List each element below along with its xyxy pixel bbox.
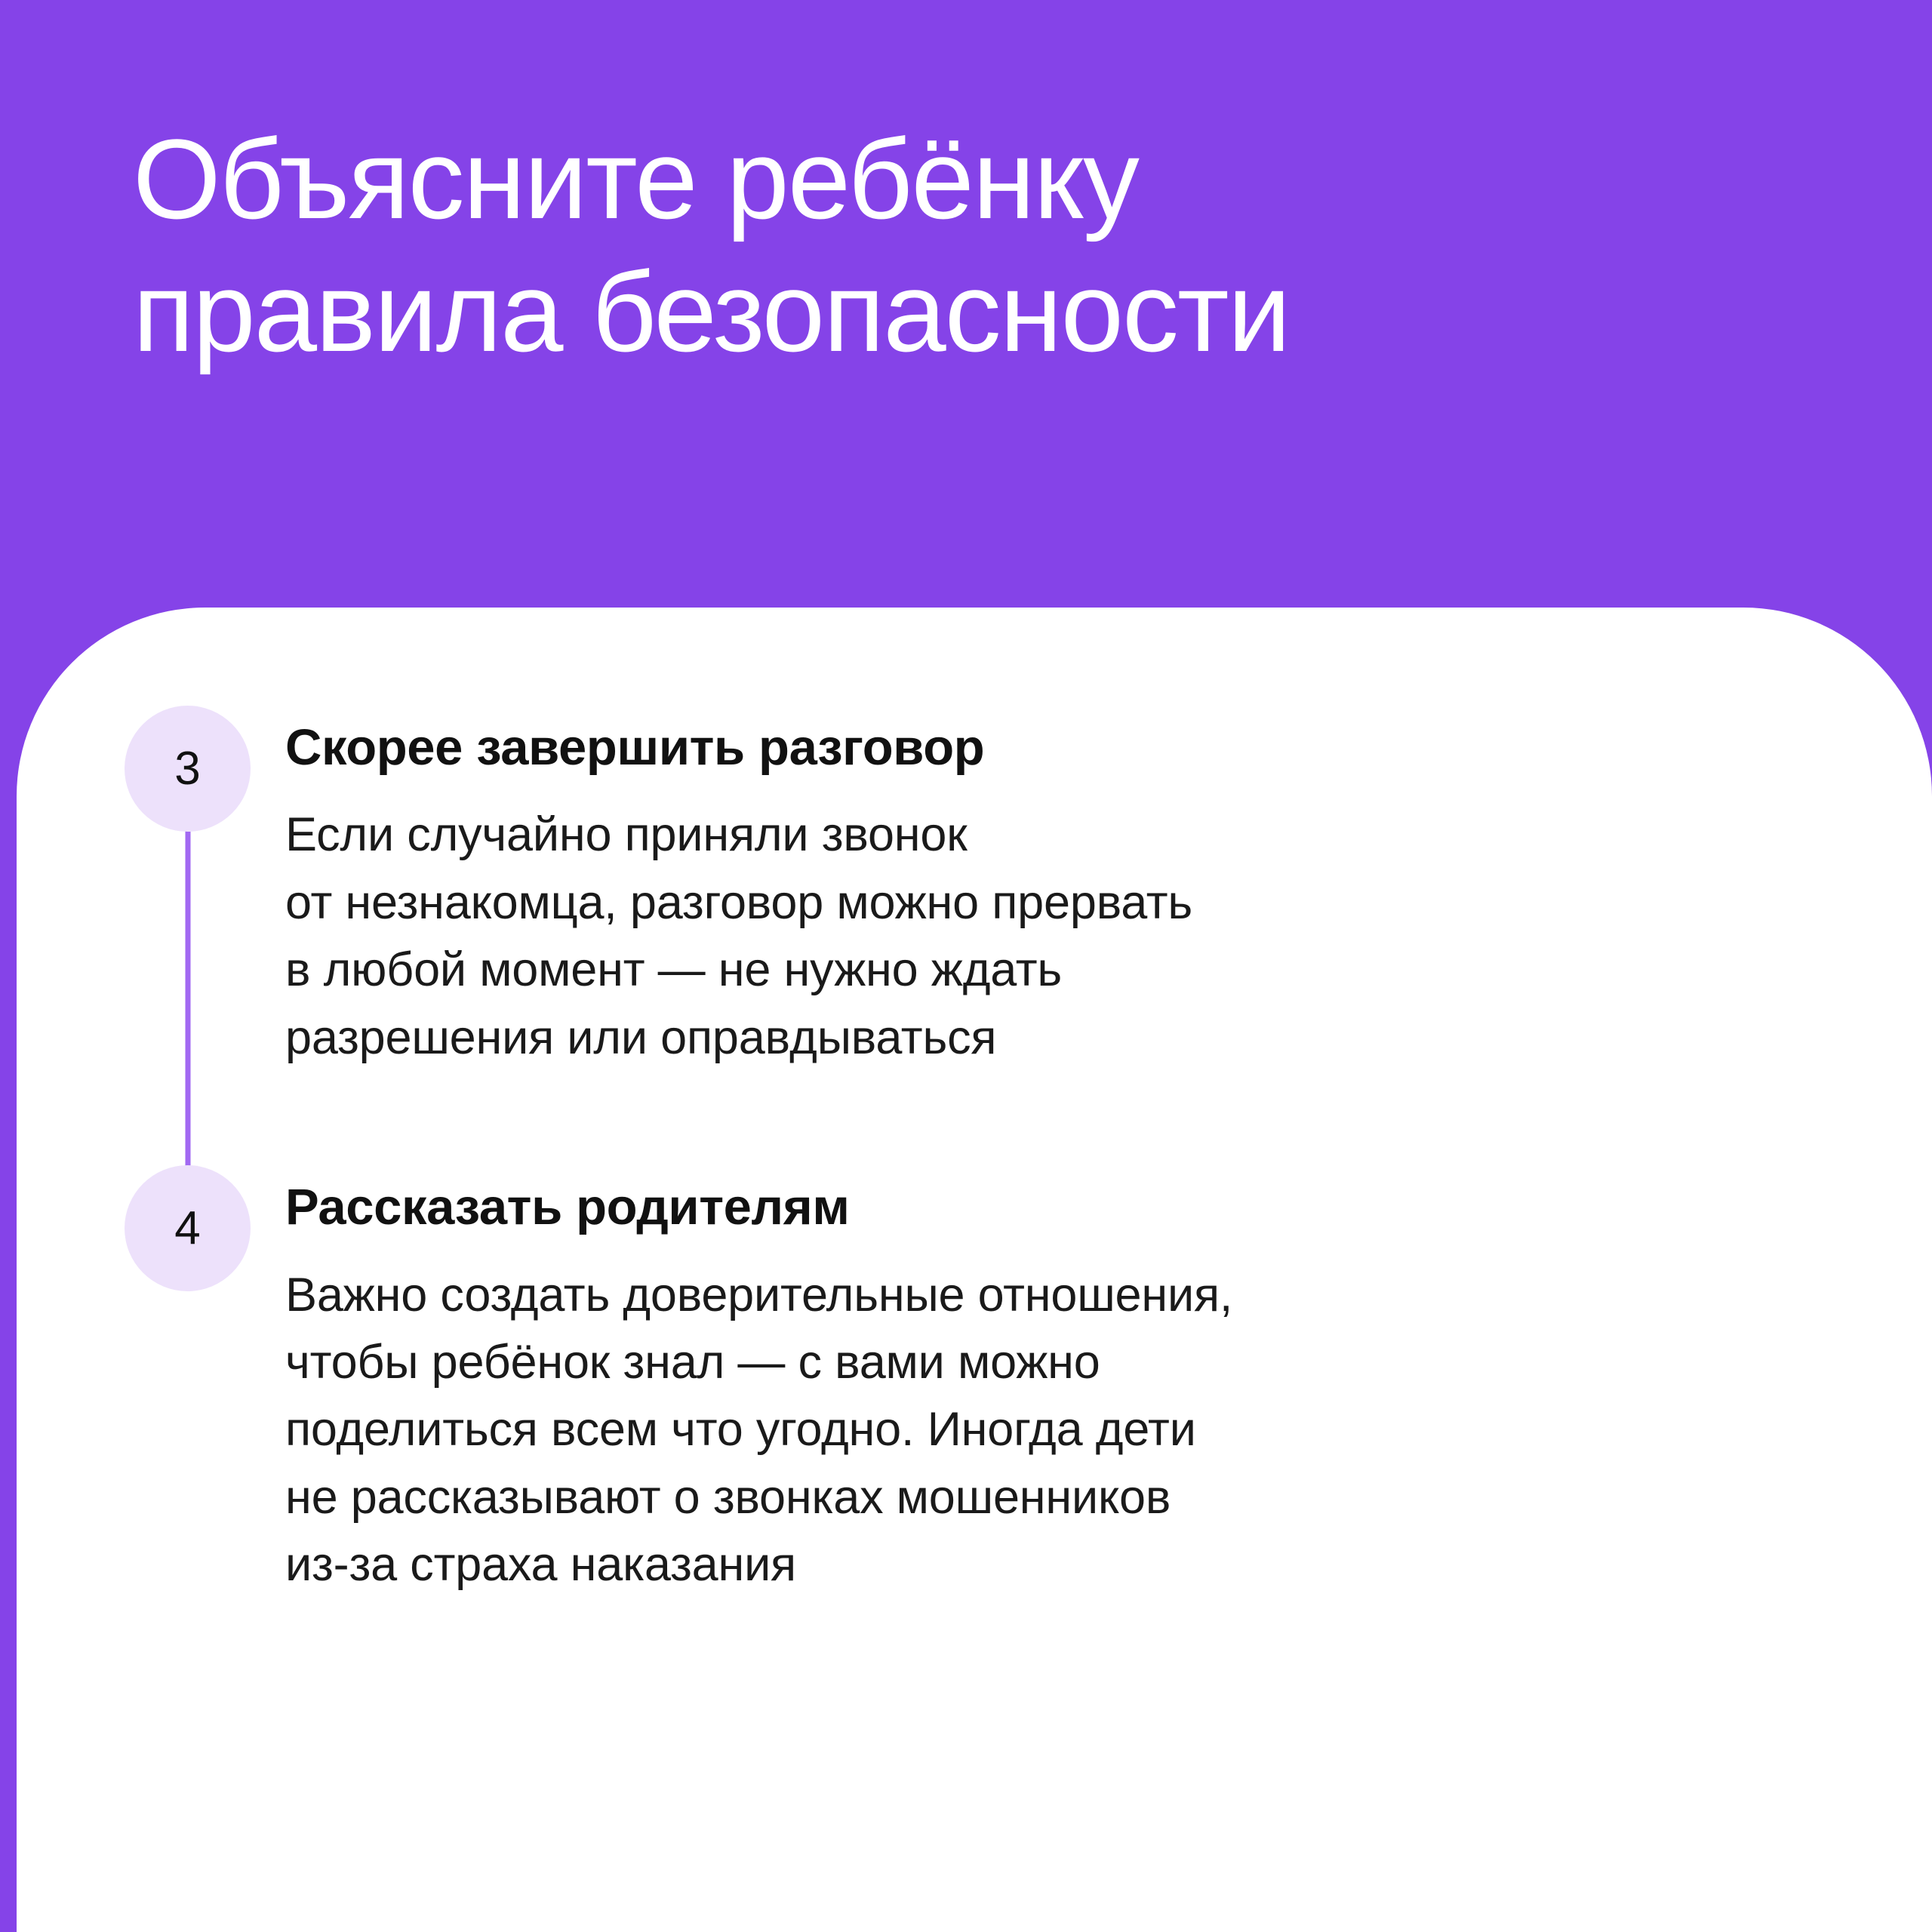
step-description: Важно создать доверительные отношения, ч… (285, 1262, 1614, 1599)
step-badge-column: 3 (125, 706, 251, 832)
step-number-label: 4 (174, 1205, 200, 1252)
slide-root: Объясните ребёнку правила безопасности 3… (0, 0, 1932, 1932)
step-number-badge: 4 (125, 1165, 251, 1291)
step-description: Если случайно приняли звонок от незнаком… (285, 801, 1614, 1072)
content-card: 3 Скорее завершить разговор Если случайн… (17, 608, 1932, 1932)
page-title: Объясните ребёнку правила безопасности (133, 113, 1796, 378)
steps-list: 3 Скорее завершить разговор Если случайн… (17, 608, 1932, 1599)
step-content: Рассказать родителям Важно создать довер… (251, 1165, 1932, 1599)
step-number-badge: 3 (125, 706, 251, 832)
step-content: Скорее завершить разговор Если случайно … (251, 706, 1932, 1165)
step-title: Скорее завершить разговор (285, 719, 1932, 777)
step-number-label: 3 (174, 746, 200, 792)
list-item: 3 Скорее завершить разговор Если случайн… (17, 706, 1932, 1165)
step-title: Рассказать родителям (285, 1179, 1932, 1236)
list-item: 4 Рассказать родителям Важно создать дов… (17, 1165, 1932, 1599)
header-band: Объясните ребёнку правила безопасности (0, 0, 1932, 626)
step-badge-column: 4 (125, 1165, 251, 1291)
